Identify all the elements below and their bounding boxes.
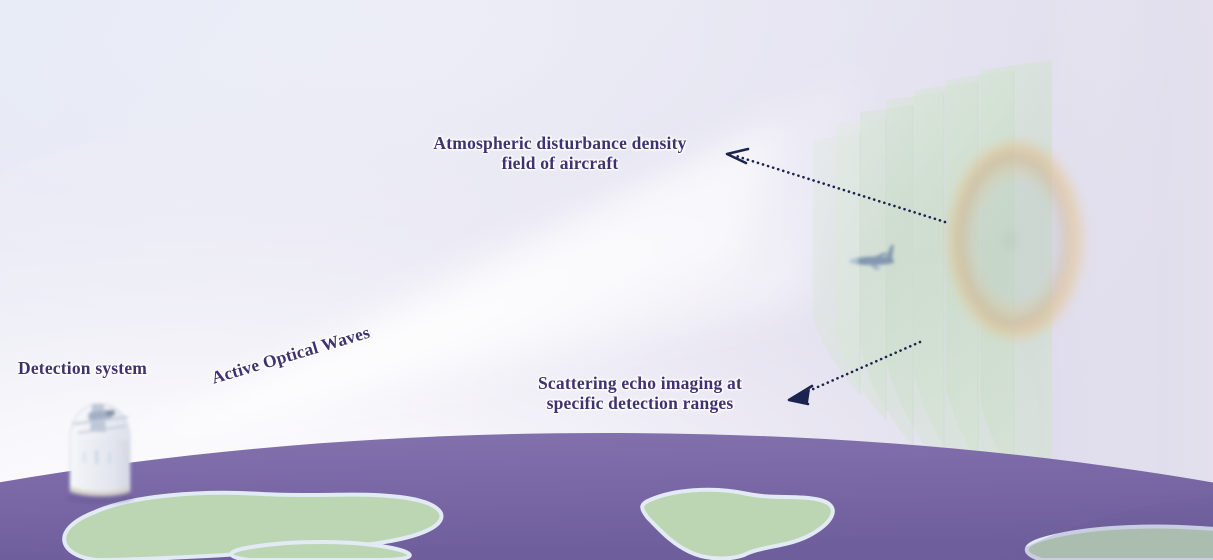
illustration-canvas: Atmospheric disturbance density field of… — [0, 0, 1213, 560]
detection-system-layer — [0, 0, 1213, 560]
observatory-dome — [66, 404, 134, 504]
dome-base — [70, 437, 130, 495]
